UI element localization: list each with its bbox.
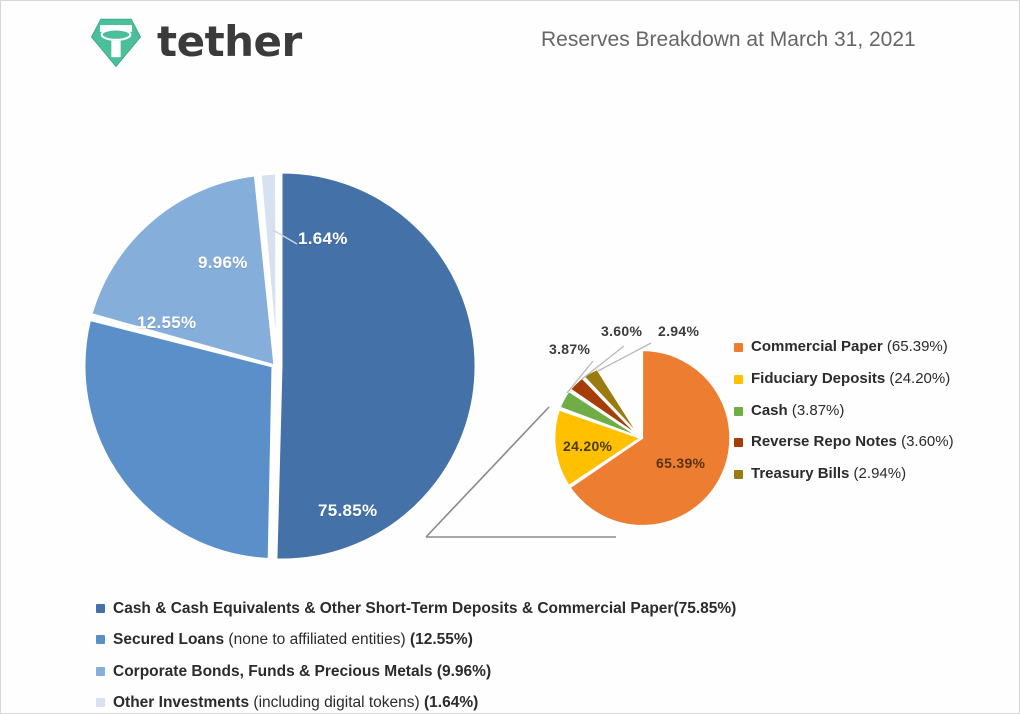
legend-item-cash[interactable]: Cash (3.87%): [734, 402, 954, 421]
legend-percent: (3.87%): [788, 402, 845, 419]
legend-item-corporate-bonds[interactable]: Corporate Bonds, Funds & Precious Metals…: [96, 662, 736, 681]
legend-name: Secured Loans: [113, 631, 224, 648]
legend-percent: (2.94%): [849, 465, 906, 482]
legend-label: Secured Loans (none to affiliated entiti…: [113, 630, 473, 649]
main-pie-legend: Cash & Cash Equivalents & Other Short-Te…: [96, 599, 736, 714]
detail-label-fiduciary-deposits: 24.20%: [563, 438, 612, 454]
legend-label: Cash (3.87%): [751, 402, 844, 421]
detail-label-commercial-paper: 65.39%: [656, 455, 705, 471]
legend-swatch-icon: [734, 343, 743, 352]
legend-item-other-investments[interactable]: Other Investments (including digital tok…: [96, 693, 736, 712]
detail-pie-legend: Commercial Paper (65.39%) Fiduciary Depo…: [734, 338, 954, 497]
legend-detail: (none to affiliated entities): [224, 631, 406, 648]
legend-label: Commercial Paper (65.39%): [751, 338, 948, 357]
legend-name: Other Investments: [113, 694, 249, 711]
legend-item-reverse-repo-notes[interactable]: Reverse Repo Notes (3.60%): [734, 433, 954, 452]
infographic-page: tether Reserves Breakdown at March 31, 2…: [0, 0, 1020, 714]
legend-detail: (including digital tokens): [249, 694, 420, 711]
chart-stage: 75.85% 12.55% 9.96% 1.64%: [1, 1, 1020, 714]
legend-percent: (9.96%): [433, 663, 492, 680]
legend-item-commercial-paper[interactable]: Commercial Paper (65.39%): [734, 338, 954, 357]
legend-name: Reverse Repo Notes: [751, 433, 897, 450]
legend-swatch-icon: [734, 470, 743, 479]
legend-label: Corporate Bonds, Funds & Precious Metals…: [113, 662, 491, 681]
legend-label: Fiduciary Deposits (24.20%): [751, 370, 950, 389]
legend-label: Other Investments (including digital tok…: [113, 693, 478, 712]
legend-name: Fiduciary Deposits: [751, 370, 885, 387]
legend-percent: (24.20%): [885, 370, 950, 387]
legend-percent: (1.64%): [420, 694, 479, 711]
legend-swatch-icon: [734, 407, 743, 416]
legend-item-secured-loans[interactable]: Secured Loans (none to affiliated entiti…: [96, 630, 736, 649]
legend-swatch-icon: [96, 635, 105, 644]
legend-label: Reverse Repo Notes (3.60%): [751, 433, 954, 452]
legend-percent: (65.39%): [883, 338, 948, 355]
legend-item-fiduciary-deposits[interactable]: Fiduciary Deposits (24.20%): [734, 370, 954, 389]
legend-item-cash-equivalents[interactable]: Cash & Cash Equivalents & Other Short-Te…: [96, 599, 736, 618]
legend-name: Cash: [751, 402, 788, 419]
legend-label: Treasury Bills (2.94%): [751, 465, 906, 484]
legend-swatch-icon: [96, 667, 105, 676]
legend-name: Treasury Bills: [751, 465, 849, 482]
detail-label-treasury-bills: 2.94%: [658, 323, 699, 339]
legend-swatch-icon: [734, 438, 743, 447]
legend-label: Cash & Cash Equivalents & Other Short-Te…: [113, 599, 736, 618]
legend-percent: (12.55%): [406, 631, 473, 648]
legend-name: Cash & Cash Equivalents & Other Short-Te…: [113, 600, 673, 617]
legend-item-treasury-bills[interactable]: Treasury Bills (2.94%): [734, 465, 954, 484]
legend-swatch-icon: [96, 604, 105, 613]
legend-name: Commercial Paper: [751, 338, 883, 355]
legend-name: Corporate Bonds, Funds & Precious Metals: [113, 663, 433, 680]
legend-percent: (3.60%): [897, 433, 954, 450]
legend-swatch-icon: [734, 375, 743, 384]
detail-label-reverse-repo-notes: 3.60%: [601, 323, 642, 339]
detail-label-cash: 3.87%: [549, 341, 590, 357]
legend-swatch-icon: [96, 698, 105, 707]
legend-percent: (75.85%): [673, 600, 736, 617]
